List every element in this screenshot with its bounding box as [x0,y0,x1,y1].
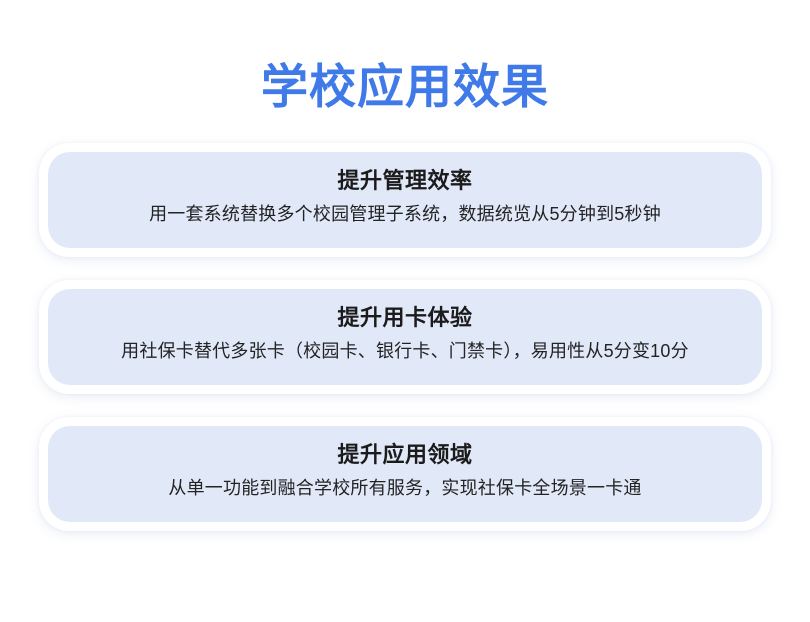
benefit-card-list: 提升管理效率 用一套系统替换多个校园管理子系统，数据统览从5分钟到5秒钟 提升用… [0,143,810,554]
benefit-card-3: 提升应用领域 从单一功能到融合学校所有服务，实现社保卡全场景一卡通 [48,426,762,522]
benefit-card-shell-1: 提升管理效率 用一套系统替换多个校园管理子系统，数据统览从5分钟到5秒钟 [39,143,771,257]
school-effect-infographic: 学校应用效果 提升管理效率 用一套系统替换多个校园管理子系统，数据统览从5分钟到… [0,0,810,622]
benefit-card-2: 提升用卡体验 用社保卡替代多张卡（校园卡、银行卡、门禁卡），易用性从5分变10分 [48,289,762,385]
benefit-card-heading: 提升应用领域 [74,439,736,471]
benefit-card-heading: 提升管理效率 [74,165,736,197]
benefit-card-description: 从单一功能到融合学校所有服务，实现社保卡全场景一卡通 [74,473,736,503]
benefit-card-description: 用一套系统替换多个校园管理子系统，数据统览从5分钟到5秒钟 [74,199,736,229]
page-title: 学校应用效果 [0,58,810,116]
benefit-card-1: 提升管理效率 用一套系统替换多个校园管理子系统，数据统览从5分钟到5秒钟 [48,152,762,248]
benefit-card-description: 用社保卡替代多张卡（校园卡、银行卡、门禁卡），易用性从5分变10分 [74,336,736,366]
benefit-card-shell-2: 提升用卡体验 用社保卡替代多张卡（校园卡、银行卡、门禁卡），易用性从5分变10分 [39,280,771,394]
benefit-card-heading: 提升用卡体验 [74,302,736,334]
benefit-card-shell-3: 提升应用领域 从单一功能到融合学校所有服务，实现社保卡全场景一卡通 [39,417,771,531]
